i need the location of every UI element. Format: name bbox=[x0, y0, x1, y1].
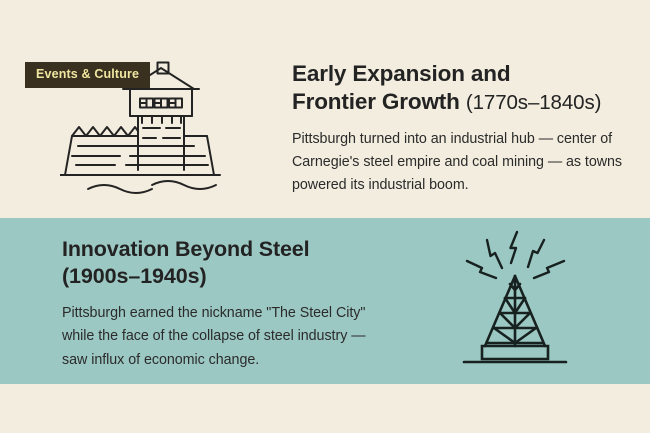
section-body-early-expansion: Pittsburgh turned into an industrial hub… bbox=[292, 128, 636, 197]
radio-tower-icon bbox=[452, 226, 578, 368]
heading-line-1: Innovation Beyond Steel bbox=[62, 237, 309, 261]
section-text-early-expansion: Early Expansion and Frontier Growth (177… bbox=[292, 60, 636, 197]
infographic-canvas: Events & Culture bbox=[0, 0, 650, 433]
heading-line-1: Early Expansion and bbox=[292, 61, 510, 86]
section-body-innovation-beyond-steel: Pittsburgh earned the nickname "The Stee… bbox=[62, 302, 392, 371]
heading-period-range: (1770s–1840s) bbox=[466, 91, 601, 114]
heading-line-2: Frontier Growth bbox=[292, 89, 460, 114]
section-heading-innovation-beyond-steel: Innovation Beyond Steel (1900s–1940s) bbox=[62, 236, 392, 289]
section-text-innovation-beyond-steel: Innovation Beyond Steel (1900s–1940s) Pi… bbox=[62, 236, 392, 372]
heading-period-range: (1900s–1940s) bbox=[62, 264, 207, 288]
section-heading-early-expansion: Early Expansion and Frontier Growth (177… bbox=[292, 60, 636, 116]
category-badge-events-culture: Events & Culture bbox=[25, 62, 150, 88]
panel-footer-strip bbox=[0, 384, 650, 433]
